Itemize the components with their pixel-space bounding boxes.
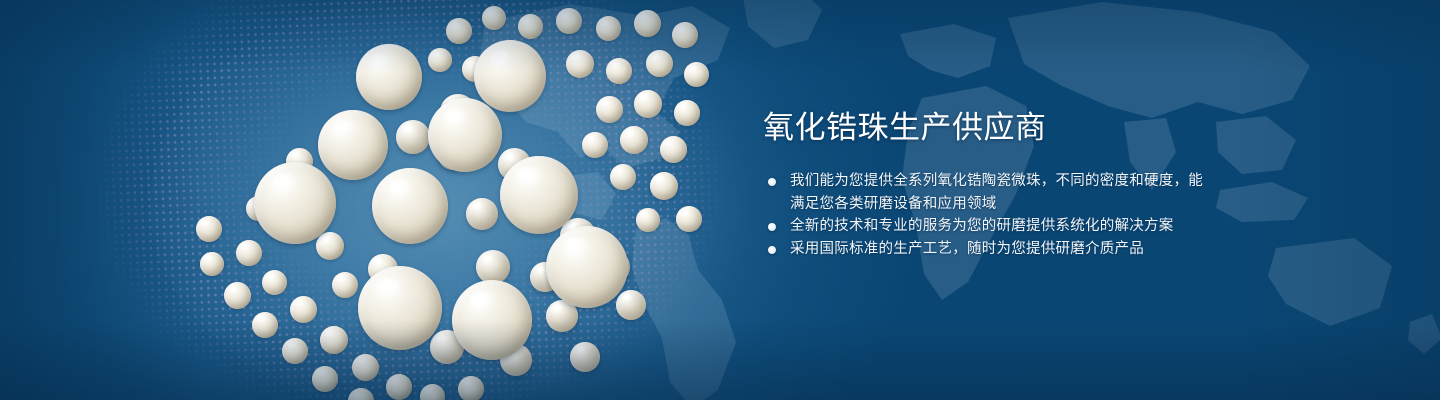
banner-copy: 氧化锆珠生产供应商 我们能为您提供全系列氧化锆陶瓷微珠，不同的密度和硬度，能满足… <box>763 108 1363 260</box>
feature-text: 我们能为您提供全系列氧化锆陶瓷微珠，不同的密度和硬度，能满足您各类研磨设备和应用… <box>790 173 1203 212</box>
bullet-dot-icon <box>768 246 776 254</box>
hero-banner: 氧化锆珠生产供应商 我们能为您提供全系列氧化锆陶瓷微珠，不同的密度和硬度，能满足… <box>0 0 1440 400</box>
feature-text: 全新的技术和专业的服务为您的研磨提供系统化的解决方案 <box>790 218 1174 234</box>
bullet-dot-icon <box>768 178 776 186</box>
feature-list-item: 全新的技术和专业的服务为您的研磨提供系统化的解决方案 <box>763 215 1203 238</box>
feature-list-item: 采用国际标准的生产工艺，随时为您提供研磨介质产品 <box>763 238 1203 261</box>
banner-feature-list: 我们能为您提供全系列氧化锆陶瓷微珠，不同的密度和硬度，能满足您各类研磨设备和应用… <box>763 170 1363 260</box>
banner-headline: 氧化锆珠生产供应商 <box>763 108 1363 148</box>
bullet-dot-icon <box>768 223 776 231</box>
feature-list-item: 我们能为您提供全系列氧化锆陶瓷微珠，不同的密度和硬度，能满足您各类研磨设备和应用… <box>763 170 1203 215</box>
feature-text: 采用国际标准的生产工艺，随时为您提供研磨介质产品 <box>790 241 1144 257</box>
